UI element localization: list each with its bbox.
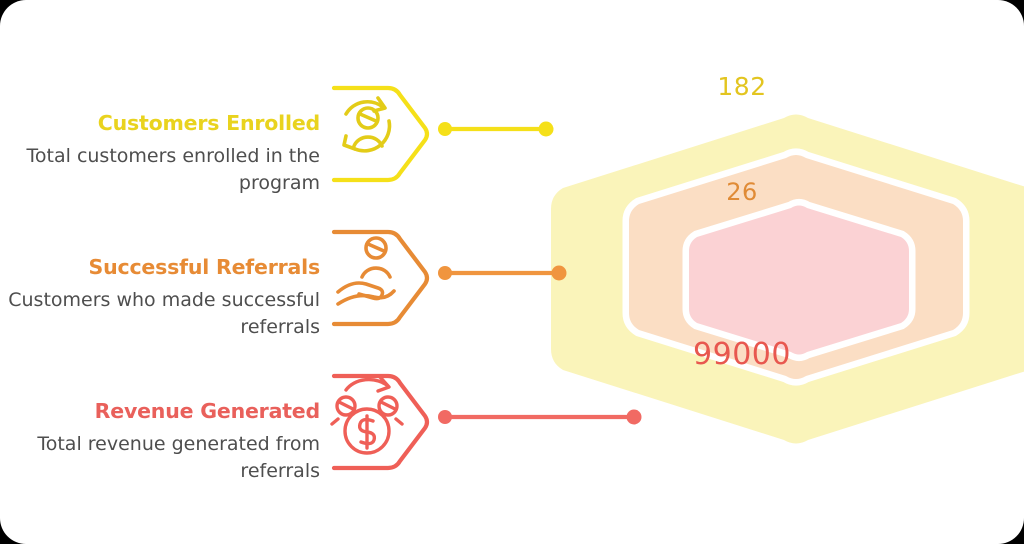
connector-dot-start	[438, 122, 452, 136]
metric-description: Total revenue generated from referrals	[0, 431, 320, 485]
hand-holding-person-icon	[338, 238, 394, 304]
connector-line-revenue-generated	[436, 362, 652, 482]
connector-dot-end	[539, 122, 554, 137]
connector-dot-start	[438, 266, 452, 280]
metric-text-block: Customers Enrolled Total customers enrol…	[0, 110, 320, 197]
connector-line-customers-enrolled	[436, 74, 566, 194]
metric-title: Successful Referrals	[0, 254, 320, 280]
person-in-cycle-arrows-icon	[344, 98, 389, 151]
metric-title: Revenue Generated	[0, 398, 320, 424]
hexagon-bracket-shape	[334, 232, 427, 324]
metric-description: Total customers enrolled in the program	[0, 143, 320, 197]
connector-dot-start	[438, 410, 452, 424]
infographic-canvas: 182 26 99000 Customers Enrolled Total cu…	[0, 0, 1024, 544]
metric-text-block: Successful Referrals Customers who made …	[0, 254, 320, 341]
metric-description: Customers who made successful referrals	[0, 287, 320, 341]
dollar-coin-cycle-icon	[332, 377, 402, 453]
metric-text-block: Revenue Generated Total revenue generate…	[0, 398, 320, 485]
metric-title: Customers Enrolled	[0, 110, 320, 136]
connector-dot-end	[552, 266, 567, 281]
connector-dot-end	[627, 410, 642, 425]
connector-line-successful-referrals	[436, 218, 576, 338]
